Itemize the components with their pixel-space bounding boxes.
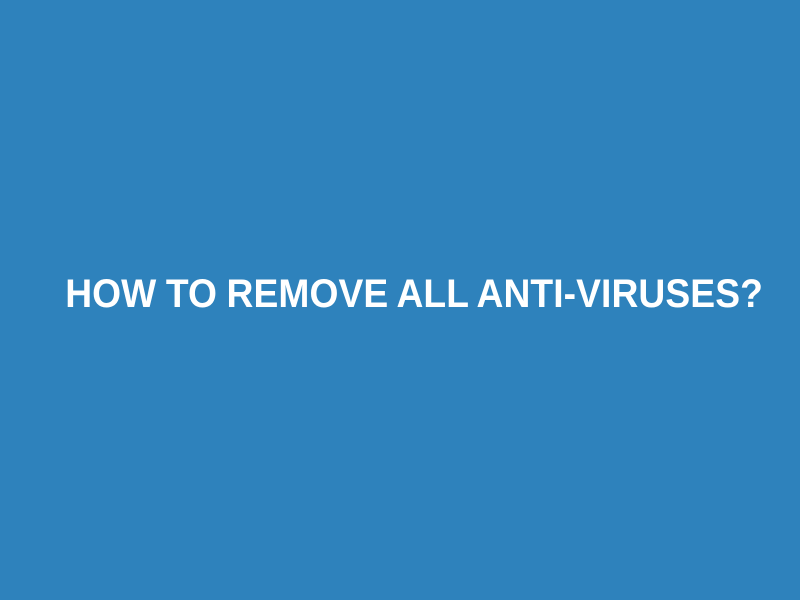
title-card: HOW TO REMOVE ALL ANTI-VIRUSES? [0, 0, 800, 600]
headline-container: HOW TO REMOVE ALL ANTI-VIRUSES? [0, 273, 800, 316]
page-title: HOW TO REMOVE ALL ANTI-VIRUSES? [65, 273, 735, 316]
